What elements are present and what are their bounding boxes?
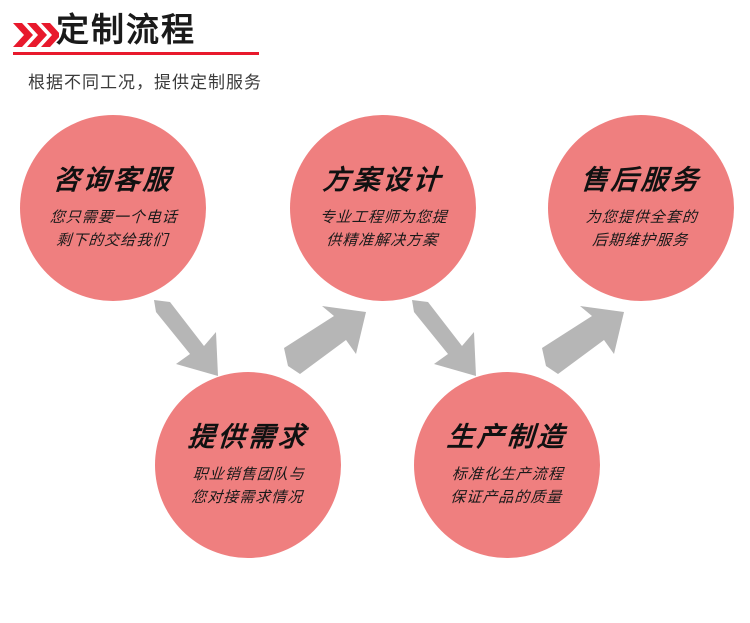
node-description: 职业销售团队与 您对接需求情况	[190, 464, 305, 510]
process-node-consult[interactable]: 咨询客服 您只需要一个电话 剩下的交给我们	[20, 115, 206, 301]
node-description: 为您提供全套的 后期维护服务	[583, 207, 698, 253]
node-desc-line: 您对接需求情况	[190, 487, 304, 510]
process-node-requirement[interactable]: 提供需求 职业销售团队与 您对接需求情况	[155, 372, 341, 558]
process-node-manufacture[interactable]: 生产制造 标准化生产流程 保证产品的质量	[414, 372, 600, 558]
customization-process-infographic: 定制流程 根据不同工况，提供定制服务 咨询	[0, 0, 750, 623]
arrow-down-right-icon	[146, 298, 232, 384]
node-description: 您只需要一个电话 剩下的交给我们	[47, 207, 178, 253]
process-flow-diagram: 咨询客服 您只需要一个电话 剩下的交给我们 方案设计 专业工程师为您提 供精准解…	[0, 0, 750, 623]
node-desc-line: 剩下的交给我们	[47, 230, 177, 253]
node-desc-line: 职业销售团队与	[192, 464, 306, 487]
arrow-up-right-icon	[540, 298, 626, 384]
process-node-after-sales[interactable]: 售后服务 为您提供全套的 后期维护服务	[548, 115, 734, 301]
node-title: 提供需求	[187, 421, 309, 453]
node-title: 售后服务	[580, 164, 702, 196]
node-description: 标准化生产流程 保证产品的质量	[449, 464, 564, 510]
arrow-up-right-icon	[282, 298, 368, 384]
arrow-down-right-icon	[404, 298, 490, 384]
node-desc-line: 供精准解决方案	[317, 230, 447, 253]
process-node-design[interactable]: 方案设计 专业工程师为您提 供精准解决方案	[290, 115, 476, 301]
node-desc-line: 为您提供全套的	[585, 207, 699, 230]
node-desc-line: 标准化生产流程	[451, 464, 565, 487]
node-title: 方案设计	[322, 164, 444, 196]
node-title: 生产制造	[446, 421, 568, 453]
node-desc-line: 后期维护服务	[583, 230, 697, 253]
node-desc-line: 您只需要一个电话	[49, 207, 179, 230]
node-title: 咨询客服	[52, 164, 174, 196]
node-desc-line: 专业工程师为您提	[319, 207, 449, 230]
node-description: 专业工程师为您提 供精准解决方案	[317, 207, 448, 253]
node-desc-line: 保证产品的质量	[449, 487, 563, 510]
